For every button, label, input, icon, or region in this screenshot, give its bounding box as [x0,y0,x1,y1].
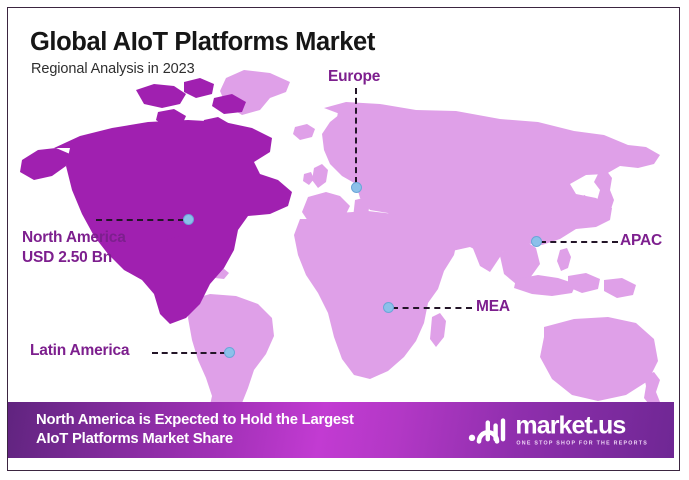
market-us-logo-text: market.us ONE STOP SHOP FOR THE REPORTS [515,413,648,446]
map-marker-latin-america[interactable] [224,347,235,358]
map-marker-apac[interactable] [531,236,542,247]
map-marker-north-america[interactable] [183,214,194,225]
page-title: Global AIoT Platforms Market [30,28,375,57]
leader-line-north-america [96,219,184,221]
footer-banner: North America is Expected to Hold the La… [8,402,674,458]
map-marker-europe[interactable] [351,182,362,193]
logo-wordmark: market.us [515,413,648,438]
footer-line-2: AIoT Platforms Market Share [36,430,354,449]
region-label-latin-america: Latin America [30,342,129,360]
region-label-mea: MEA [476,298,510,316]
leader-line-mea [392,307,472,309]
map-marker-mea[interactable] [383,302,394,313]
footer-line-1: North America is Expected to Hold the La… [36,412,354,428]
market-us-logo-icon [468,416,508,444]
infographic-card: Global AIoT Platforms Market Regional An… [7,7,680,471]
leader-line-latin-america [152,352,226,354]
region-label-apac: APAC [620,232,662,250]
region-label-north-america: North America USD 2.50 Bn [22,228,126,268]
leader-line-europe [355,88,357,183]
logo-tagline: ONE STOP SHOP FOR THE REPORTS [516,441,648,446]
market-us-logo[interactable]: market.us ONE STOP SHOP FOR THE REPORTS [468,413,648,446]
region-label-europe: Europe [328,68,380,86]
leader-line-apac [540,241,618,243]
map-highlight-north-america [20,78,292,324]
region-name-north-america: North America [22,229,126,246]
footer-statement: North America is Expected to Hold the La… [36,411,354,449]
region-value-north-america: USD 2.50 Bn [22,248,126,268]
